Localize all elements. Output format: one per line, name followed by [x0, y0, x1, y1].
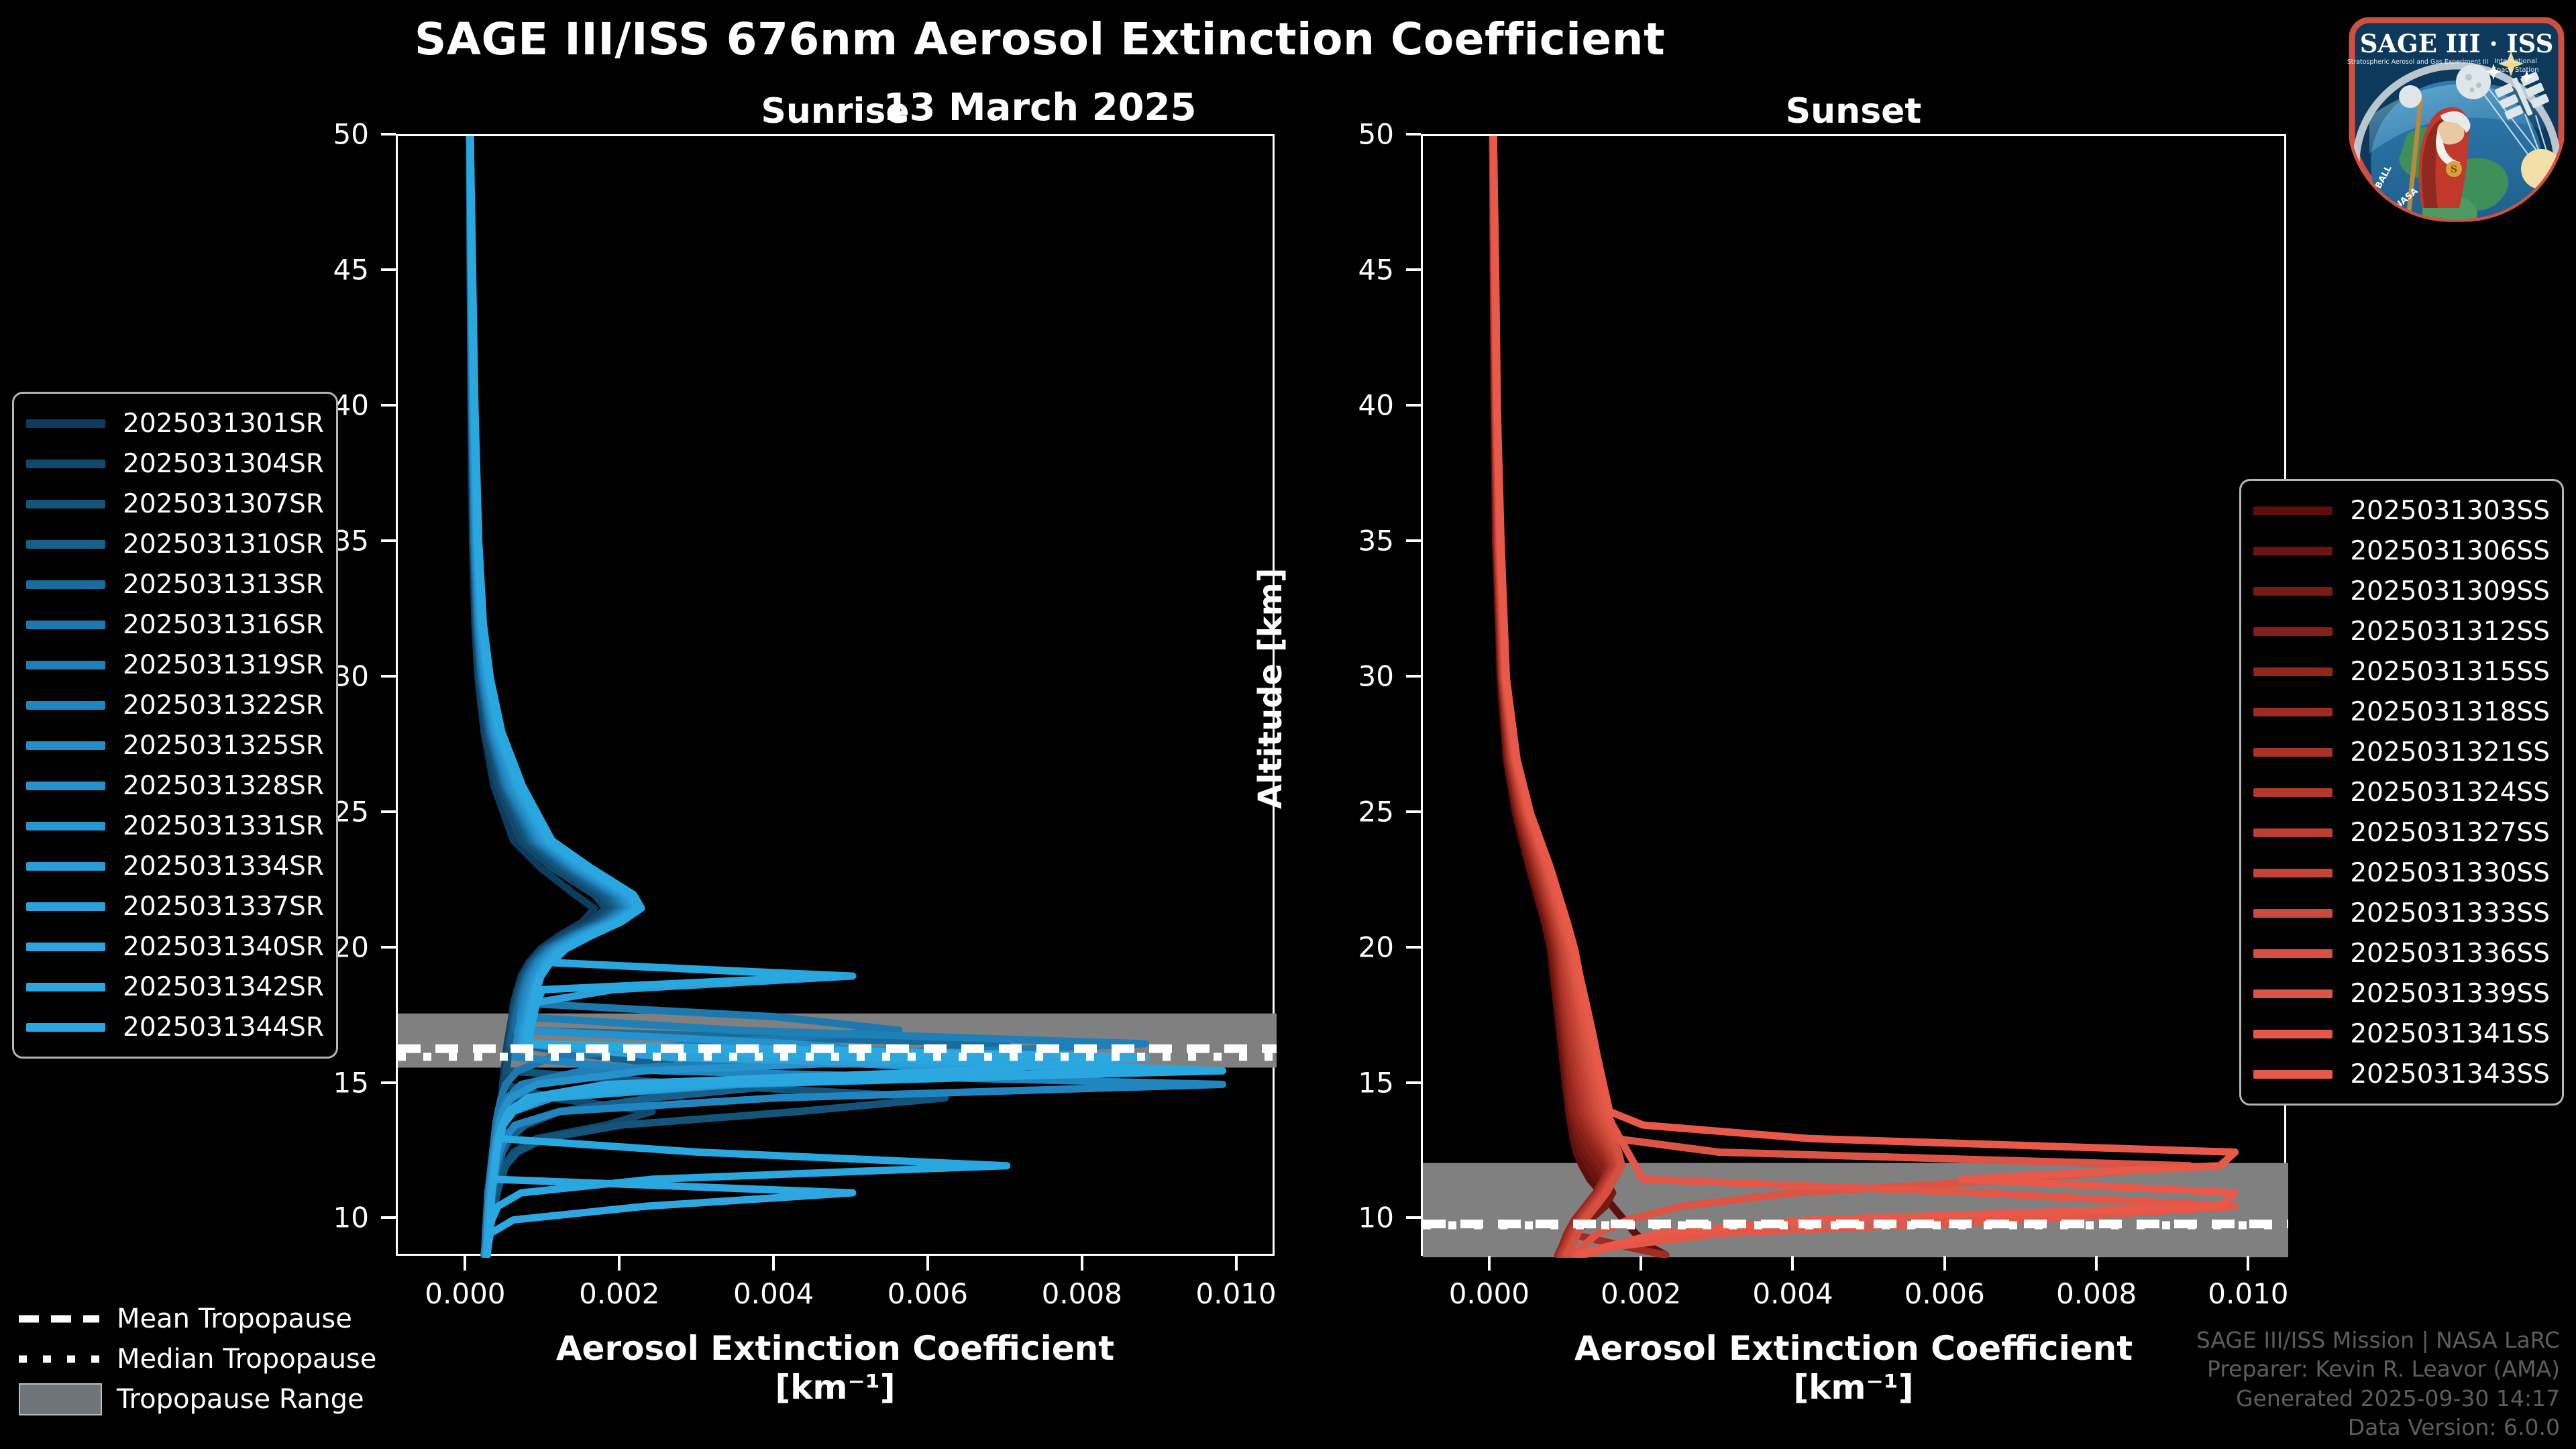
legend-color-swatch: [26, 741, 105, 750]
legend-item[interactable]: 2025031340SR: [26, 926, 324, 967]
x-tick-label: 0.008: [1042, 1277, 1122, 1310]
legend-color-swatch: [26, 500, 105, 508]
legend-item[interactable]: 2025031339SS: [2253, 973, 2550, 1014]
legend-item-label: 2025031322SR: [123, 690, 324, 720]
legend-item-label: 2025031312SS: [2350, 616, 2550, 647]
x-tick-mark: [1943, 1256, 1946, 1271]
y-tick-mark: [1406, 1081, 1421, 1084]
legend-color-swatch: [2253, 788, 2332, 797]
y-tick-label: 35: [1280, 524, 1394, 557]
legend-color-swatch: [26, 621, 105, 629]
panel-title-sunset: Sunset: [1421, 91, 2286, 131]
y-tick-label: 50: [255, 118, 369, 151]
legend-color-swatch: [2253, 1030, 2332, 1038]
x-axis-label-units: [km⁻¹]: [1421, 1368, 2286, 1407]
y-tick-mark: [1406, 539, 1421, 542]
legend-item-label: 2025031343SS: [2350, 1059, 2550, 1089]
y-tick-mark: [1406, 133, 1421, 136]
y-tick-label: 10: [255, 1201, 369, 1234]
legend-item[interactable]: 2025031344SR: [26, 1007, 324, 1047]
tropopause-legend-item: Mean Tropopause: [19, 1299, 376, 1339]
x-axis-label: Aerosol Extinction Coefficient[km⁻¹]: [396, 1330, 1275, 1407]
legend-item-label: 2025031321SS: [2350, 737, 2550, 767]
legend-color-swatch: [26, 983, 105, 991]
legend-item[interactable]: 2025031336SS: [2253, 933, 2550, 973]
legend-item[interactable]: 2025031343SS: [2253, 1054, 2550, 1094]
x-tick-label: 0.006: [1904, 1277, 1985, 1310]
y-tick-mark: [1406, 404, 1421, 407]
svg-text:Space Station: Space Station: [2492, 66, 2538, 74]
y-tick-label: 15: [255, 1066, 369, 1099]
legend-item[interactable]: 2025031307SR: [26, 484, 324, 524]
legend-item[interactable]: 2025031322SR: [26, 685, 324, 725]
profile-line: [1493, 136, 2235, 1255]
legend-item[interactable]: 2025031316SR: [26, 604, 324, 645]
tropopause-legend-item: Median Tropopause: [19, 1339, 376, 1379]
legend-item[interactable]: 2025031315SS: [2253, 651, 2550, 692]
x-tick-label: 0.010: [1195, 1277, 1276, 1310]
y-tick-label: 50: [1280, 118, 1394, 151]
legend-item-label: 2025031316SR: [123, 610, 324, 640]
y-tick-mark: [381, 404, 396, 407]
legend-item[interactable]: 2025031334SR: [26, 846, 324, 886]
svg-text:TAS-I: TAS-I: [2510, 207, 2535, 224]
credits-line-mission: SAGE III/ISS Mission | NASA LaRC: [2196, 1326, 2560, 1355]
legend-item[interactable]: 2025031309SS: [2253, 571, 2550, 611]
sunrise-plot-area: [396, 134, 1275, 1256]
y-tick-mark: [1406, 810, 1421, 813]
x-axis-label-title: Aerosol Extinction Coefficient: [1421, 1330, 2286, 1368]
legend-item-label: 2025031325SR: [123, 731, 324, 761]
x-tick-label: 0.000: [425, 1277, 505, 1310]
legend-color-swatch: [2253, 587, 2332, 596]
y-tick-mark: [1406, 946, 1421, 949]
legend-item[interactable]: 2025031313SR: [26, 564, 324, 604]
legend-item-label: 2025031309SS: [2350, 576, 2550, 606]
x-axis-label-title: Aerosol Extinction Coefficient: [396, 1330, 1275, 1368]
legend-color-swatch: [26, 943, 105, 951]
legend-item[interactable]: 2025031327SS: [2253, 812, 2550, 853]
x-axis-label: Aerosol Extinction Coefficient[km⁻¹]: [1421, 1330, 2286, 1407]
panel-title-sunrise: Sunrise: [396, 91, 1275, 131]
legend-item[interactable]: 2025031304SR: [26, 443, 324, 484]
legend-item-label: 2025031340SR: [123, 932, 324, 962]
legend-item[interactable]: 2025031337SR: [26, 886, 324, 926]
legend-item-label: 2025031327SS: [2350, 818, 2550, 848]
legend-item[interactable]: 2025031301SR: [26, 403, 324, 443]
y-tick-label: 25: [1280, 795, 1394, 828]
legend-item[interactable]: 2025031324SS: [2253, 772, 2550, 812]
legend-color-swatch: [26, 782, 105, 790]
legend-sunrise[interactable]: 2025031301SR2025031304SR2025031307SR2025…: [12, 392, 338, 1059]
logo-title: SAGE III · ISS: [2360, 29, 2554, 58]
svg-text:Stratospheric Aerosol and Gas: Stratospheric Aerosol and Gas Experiment…: [2347, 58, 2488, 66]
legend-item-label: 2025031319SR: [123, 650, 324, 680]
y-tick-mark: [381, 539, 396, 542]
legend-tropopause: Mean TropopauseMedian TropopauseTropopau…: [19, 1299, 376, 1419]
x-tick-mark: [1235, 1256, 1238, 1271]
legend-item[interactable]: 2025031321SS: [2253, 732, 2550, 772]
legend-item-label: 2025031304SR: [123, 449, 324, 479]
sunrise-profile-lines: [398, 136, 1277, 1258]
sage-iii-iss-logo: S BALL NASA TAS-I ESA SAGE III · ISS Str…: [2343, 0, 2571, 224]
x-axis-label-units: [km⁻¹]: [396, 1368, 1275, 1407]
tropopause-range-swatch: [19, 1391, 99, 1408]
legend-item[interactable]: 2025031331SR: [26, 806, 324, 846]
credits-line-generated: Generated 2025-09-30 14:17: [2196, 1384, 2560, 1413]
swatch-mark: [19, 1356, 99, 1363]
y-tick-mark: [381, 268, 396, 271]
credits-line-version: Data Version: 6.0.0: [2196, 1413, 2560, 1442]
x-tick-label: 0.006: [888, 1277, 968, 1310]
legend-item-label: 2025031330SS: [2350, 858, 2550, 888]
x-tick-mark: [2247, 1256, 2249, 1271]
x-tick-label: 0.008: [2056, 1277, 2137, 1310]
svg-text:S: S: [2451, 164, 2457, 175]
legend-item-label: 2025031339SS: [2350, 979, 2550, 1009]
legend-color-swatch: [2253, 506, 2332, 515]
y-axis-label: Altitude [km]: [1252, 568, 1289, 809]
x-tick-label: 0.000: [1449, 1277, 1529, 1310]
x-tick-mark: [772, 1256, 775, 1271]
legend-item-label: 2025031301SR: [123, 409, 324, 439]
x-tick-label: 0.004: [733, 1277, 814, 1310]
legend-item[interactable]: 2025031310SR: [26, 524, 324, 564]
y-tick-mark: [381, 133, 396, 136]
legend-color-swatch: [26, 460, 105, 468]
legend-color-swatch: [2253, 547, 2332, 555]
legend-item-label: 2025031310SR: [123, 529, 324, 559]
legend-item-label: 2025031336SS: [2350, 938, 2550, 969]
x-tick-mark: [1640, 1256, 1642, 1271]
y-tick-label: 40: [1280, 388, 1394, 421]
credits-block: SAGE III/ISS Mission | NASA LaRC Prepare…: [2196, 1326, 2560, 1442]
x-tick-mark: [1791, 1256, 1794, 1271]
y-tick-label: 20: [1280, 930, 1394, 963]
legend-item[interactable]: 2025031325SR: [26, 725, 324, 765]
y-tick-mark: [381, 1216, 396, 1219]
sunset-plot-area: [1421, 134, 2286, 1256]
tropopause-legend-label: Mean Tropopause: [117, 1303, 352, 1334]
legend-color-swatch: [2253, 909, 2332, 918]
legend-color-swatch: [2253, 748, 2332, 757]
legend-color-swatch: [2253, 828, 2332, 837]
credits-line-preparer: Preparer: Kevin R. Leavor (AMA): [2196, 1354, 2560, 1384]
legend-item-label: 2025031344SR: [123, 1012, 324, 1042]
legend-item-label: 2025031331SR: [123, 811, 324, 841]
legend-item-label: 2025031333SS: [2350, 898, 2550, 928]
x-tick-mark: [464, 1256, 466, 1271]
legend-color-swatch: [26, 902, 105, 911]
legend-item-label: 2025031306SS: [2350, 536, 2550, 566]
legend-item-label: 2025031324SS: [2350, 777, 2550, 808]
y-tick-mark: [381, 810, 396, 813]
y-tick-mark: [1406, 268, 1421, 271]
tropopause-legend-label: Median Tropopause: [117, 1344, 376, 1375]
mean-tropopause-swatch: [19, 1310, 99, 1328]
page-title: SAGE III/ISS 676nm Aerosol Extinction Co…: [0, 13, 2080, 65]
legend-item-label: 2025031337SR: [123, 892, 324, 922]
y-tick-mark: [1406, 1216, 1421, 1219]
legend-color-swatch: [26, 580, 105, 589]
x-tick-mark: [618, 1256, 621, 1271]
x-tick-mark: [926, 1256, 929, 1271]
legend-item-label: 2025031303SS: [2350, 496, 2550, 526]
legend-color-swatch: [2253, 949, 2332, 958]
legend-color-swatch: [26, 661, 105, 669]
y-tick-label: 15: [1280, 1066, 1394, 1099]
legend-sunset[interactable]: 2025031303SS2025031306SS2025031309SS2025…: [2239, 479, 2564, 1106]
swatch-mark: [19, 1383, 102, 1415]
legend-item[interactable]: 2025031303SS: [2253, 490, 2550, 531]
legend-item-label: 2025031318SS: [2350, 697, 2550, 727]
legend-color-swatch: [26, 1023, 105, 1032]
legend-item[interactable]: 2025031312SS: [2253, 611, 2550, 651]
legend-item[interactable]: 2025031319SR: [26, 645, 324, 685]
x-tick-label: 0.010: [2208, 1277, 2288, 1310]
y-tick-label: 30: [1280, 659, 1394, 692]
y-tick-mark: [381, 946, 396, 949]
legend-item-label: 2025031315SS: [2350, 657, 2550, 687]
legend-color-swatch: [2253, 708, 2332, 716]
sunset-profile-lines: [1423, 136, 2288, 1258]
y-tick-label: 45: [1280, 253, 1394, 286]
x-tick-mark: [1488, 1256, 1491, 1271]
legend-item-label: 2025031307SR: [123, 489, 324, 519]
x-tick-label: 0.002: [1601, 1277, 1681, 1310]
legend-color-swatch: [26, 822, 105, 830]
legend-color-swatch: [26, 701, 105, 710]
legend-color-swatch: [2253, 627, 2332, 636]
legend-item-label: 2025031313SR: [123, 570, 324, 600]
legend-item[interactable]: 2025031333SS: [2253, 893, 2550, 933]
legend-color-swatch: [2253, 1070, 2332, 1079]
legend-item[interactable]: 2025031328SR: [26, 765, 324, 806]
x-tick-label: 0.004: [1752, 1277, 1833, 1310]
legend-item-label: 2025031342SR: [123, 972, 324, 1002]
svg-text:International: International: [2494, 58, 2537, 65]
y-tick-mark: [381, 675, 396, 678]
legend-color-swatch: [2253, 667, 2332, 676]
legend-color-swatch: [26, 540, 105, 549]
tropopause-legend-label: Tropopause Range: [117, 1384, 364, 1415]
swatch-mark: [19, 1316, 99, 1323]
legend-item[interactable]: 2025031330SS: [2253, 853, 2550, 893]
y-tick-label: 45: [255, 253, 369, 286]
y-tick-label: 10: [1280, 1201, 1394, 1234]
legend-color-swatch: [2253, 869, 2332, 877]
y-tick-mark: [1406, 675, 1421, 678]
x-tick-mark: [1081, 1256, 1083, 1271]
legend-item[interactable]: 2025031306SS: [2253, 531, 2550, 571]
y-tick-mark: [381, 1081, 396, 1084]
legend-color-swatch: [26, 419, 105, 428]
legend-item[interactable]: 2025031342SR: [26, 967, 324, 1007]
legend-item-label: 2025031334SR: [123, 851, 324, 881]
legend-item-label: 2025031341SS: [2350, 1019, 2550, 1049]
x-tick-label: 0.002: [579, 1277, 659, 1310]
legend-item[interactable]: 2025031341SS: [2253, 1014, 2550, 1054]
tropopause-legend-item: Tropopause Range: [19, 1379, 376, 1419]
legend-item-label: 2025031328SR: [123, 771, 324, 801]
median-tropopause-swatch: [19, 1350, 99, 1368]
legend-item[interactable]: 2025031318SS: [2253, 692, 2550, 732]
x-tick-mark: [2095, 1256, 2098, 1271]
legend-color-swatch: [26, 862, 105, 871]
legend-color-swatch: [2253, 989, 2332, 998]
